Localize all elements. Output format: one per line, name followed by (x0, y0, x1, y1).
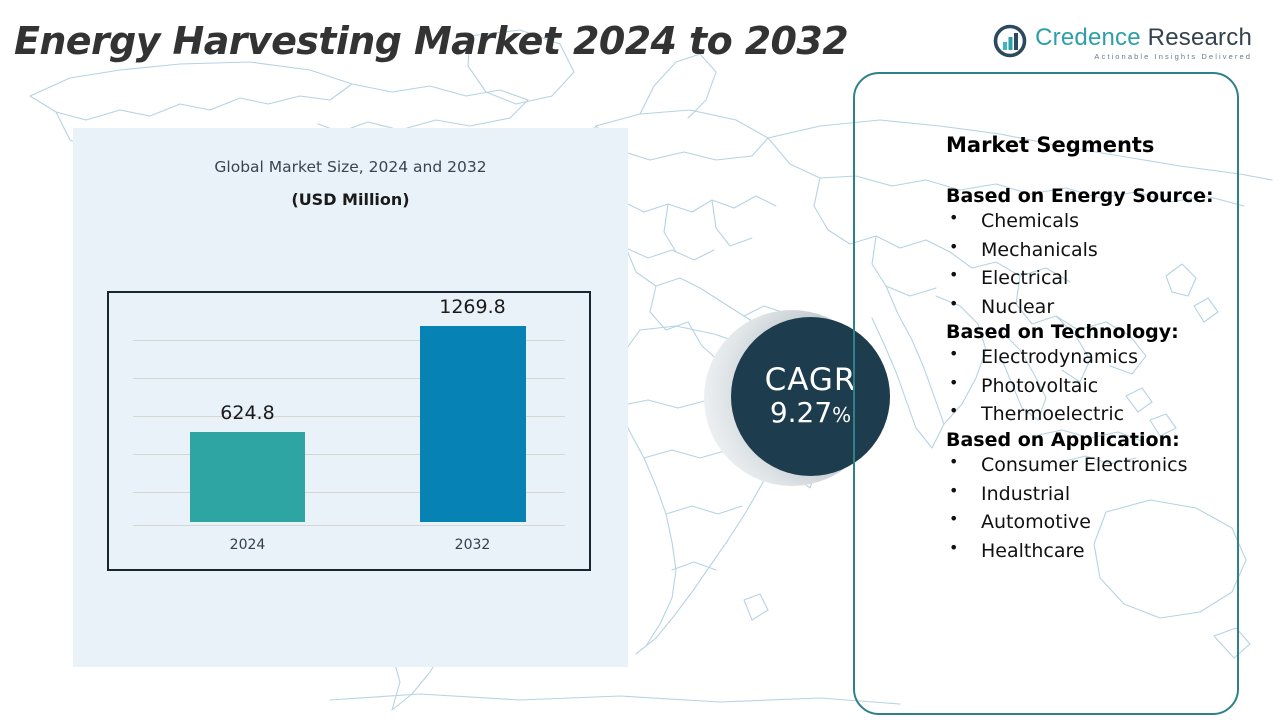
segments-heading-technology: Based on Technology: (946, 321, 1236, 343)
cagr-value: 9.27 (770, 396, 832, 429)
list-item: Consumer Electronics (946, 451, 1236, 480)
list-item: Photovoltaic (946, 372, 1236, 401)
list-item: Industrial (946, 480, 1236, 509)
list-item: Automotive (946, 508, 1236, 537)
list-item: Electrical (946, 264, 1236, 293)
list-item: Nuclear (946, 293, 1236, 322)
bar-value-label-2032: 1269.8 (415, 296, 530, 318)
brand-logo: Credence Research Actionable Insights De… (993, 24, 1252, 63)
list-item: Mechanicals (946, 236, 1236, 265)
bar-chart-circle-icon (993, 24, 1027, 63)
cagr-unit: % (832, 403, 851, 427)
bar-category-label-2032: 2032 (415, 537, 530, 553)
segments-heading-application: Based on Application: (946, 429, 1236, 451)
market-segments-content: Market Segments Based on Energy Source: … (946, 133, 1236, 565)
list-item: Healthcare (946, 537, 1236, 566)
bar-2024 (190, 432, 305, 522)
bar-value-label-2024: 624.8 (190, 402, 305, 424)
segments-list-technology: Electrodynamics Photovoltaic Thermoelect… (946, 343, 1236, 429)
chart-title: Global Market Size, 2024 and 2032 (73, 158, 628, 176)
bar-category-label-2024: 2024 (190, 537, 305, 553)
list-item: Electrodynamics (946, 343, 1236, 372)
chart-subtitle-units: (USD Million) (73, 190, 628, 209)
segments-title: Market Segments (946, 133, 1236, 157)
page-title: Energy Harvesting Market 2024 to 2032 (14, 19, 848, 63)
list-item: Chemicals (946, 207, 1236, 236)
segments-list-energy-source: Chemicals Mechanicals Electrical Nuclear (946, 207, 1236, 321)
gridline (133, 525, 565, 526)
segments-heading-energy-source: Based on Energy Source: (946, 185, 1236, 207)
segments-list-application: Consumer Electronics Industrial Automoti… (946, 451, 1236, 565)
cagr-label: CAGR (765, 364, 857, 397)
logo-tagline: Actionable Insights Delivered (1035, 53, 1252, 61)
list-item: Thermoelectric (946, 400, 1236, 429)
bar-2032 (420, 326, 526, 522)
logo-word-secondary: Research (1141, 24, 1252, 51)
logo-word-primary: Credence (1035, 24, 1141, 51)
plot-area: 624.8 2024 1269.8 2032 (109, 293, 589, 569)
bar-chart: 624.8 2024 1269.8 2032 (107, 291, 591, 571)
